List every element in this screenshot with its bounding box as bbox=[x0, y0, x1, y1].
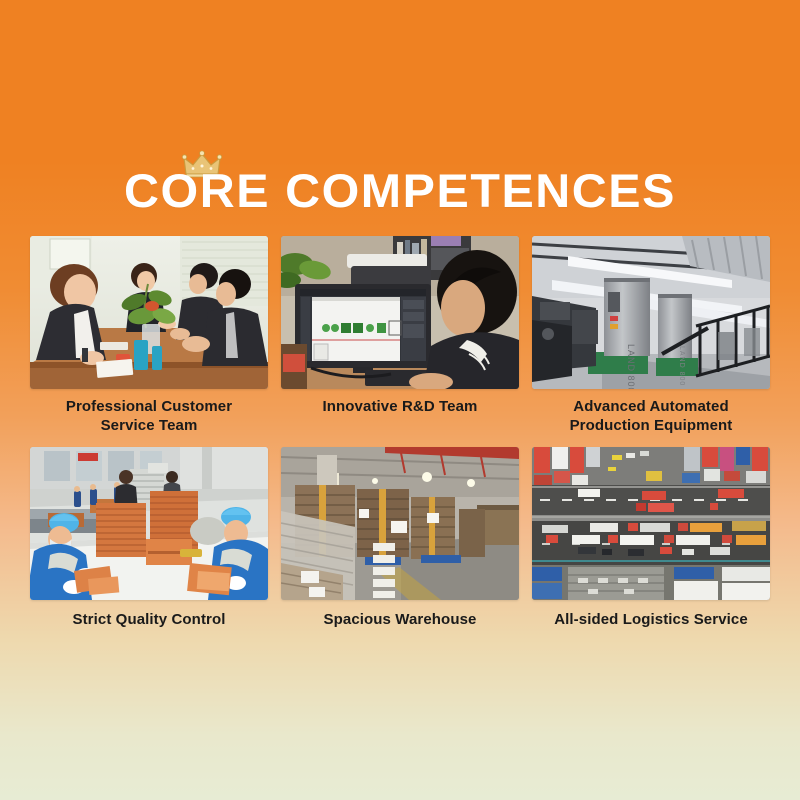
svg-text:LAND 800: LAND 800 bbox=[678, 346, 685, 386]
card-all-sided-logistics-service[interactable]: All-sided Logistics Service bbox=[532, 447, 770, 629]
grid-row-2: Strict Quality Control bbox=[30, 447, 770, 629]
caption-line-1: All-sided Logistics Service bbox=[554, 611, 748, 628]
card-spacious-warehouse[interactable]: Spacious Warehouse bbox=[281, 447, 519, 629]
card-caption: All-sided Logistics Service bbox=[532, 600, 770, 629]
page-title: CORE COMPETENCES bbox=[0, 165, 800, 217]
caption-line-1: Innovative R&D Team bbox=[323, 398, 478, 415]
grid-row-1: Professional Customer Service Team bbox=[30, 236, 770, 435]
caption-line-2: Service Team bbox=[101, 417, 198, 434]
card-caption: Strict Quality Control bbox=[30, 600, 268, 629]
card-caption: Professional Customer Service Team bbox=[30, 389, 268, 435]
core-competences-banner: CORE COMPETENCES bbox=[0, 0, 800, 800]
warehouse-pallets-photo bbox=[281, 447, 519, 600]
card-caption: Advanced Automated Production Equipment bbox=[532, 389, 770, 435]
competence-grid: Professional Customer Service Team bbox=[30, 236, 770, 629]
designer-at-computer-photo bbox=[281, 236, 519, 389]
card-innovative-rd-team[interactable]: Innovative R&D Team bbox=[281, 236, 519, 435]
caption-line-1: Professional Customer bbox=[66, 398, 232, 415]
svg-text:LAND 800: LAND 800 bbox=[626, 344, 636, 389]
office-meeting-photo bbox=[30, 236, 268, 389]
aerial-logistics-depot-photo bbox=[532, 447, 770, 600]
card-advanced-automated-production-equipment[interactable]: LAND 800 LAND 800 bbox=[532, 236, 770, 435]
quality-inspection-workers-photo bbox=[30, 447, 268, 600]
printing-press-machinery-photo: LAND 800 LAND 800 bbox=[532, 236, 770, 389]
caption-line-1: Strict Quality Control bbox=[72, 611, 225, 628]
card-caption: Spacious Warehouse bbox=[281, 600, 519, 629]
card-caption: Innovative R&D Team bbox=[281, 389, 519, 416]
caption-line-1: Advanced Automated bbox=[573, 398, 728, 415]
caption-line-2: Production Equipment bbox=[570, 417, 733, 434]
card-professional-customer-service-team[interactable]: Professional Customer Service Team bbox=[30, 236, 268, 435]
page-header: CORE COMPETENCES bbox=[0, 150, 800, 217]
card-strict-quality-control[interactable]: Strict Quality Control bbox=[30, 447, 268, 629]
caption-line-1: Spacious Warehouse bbox=[324, 611, 477, 628]
